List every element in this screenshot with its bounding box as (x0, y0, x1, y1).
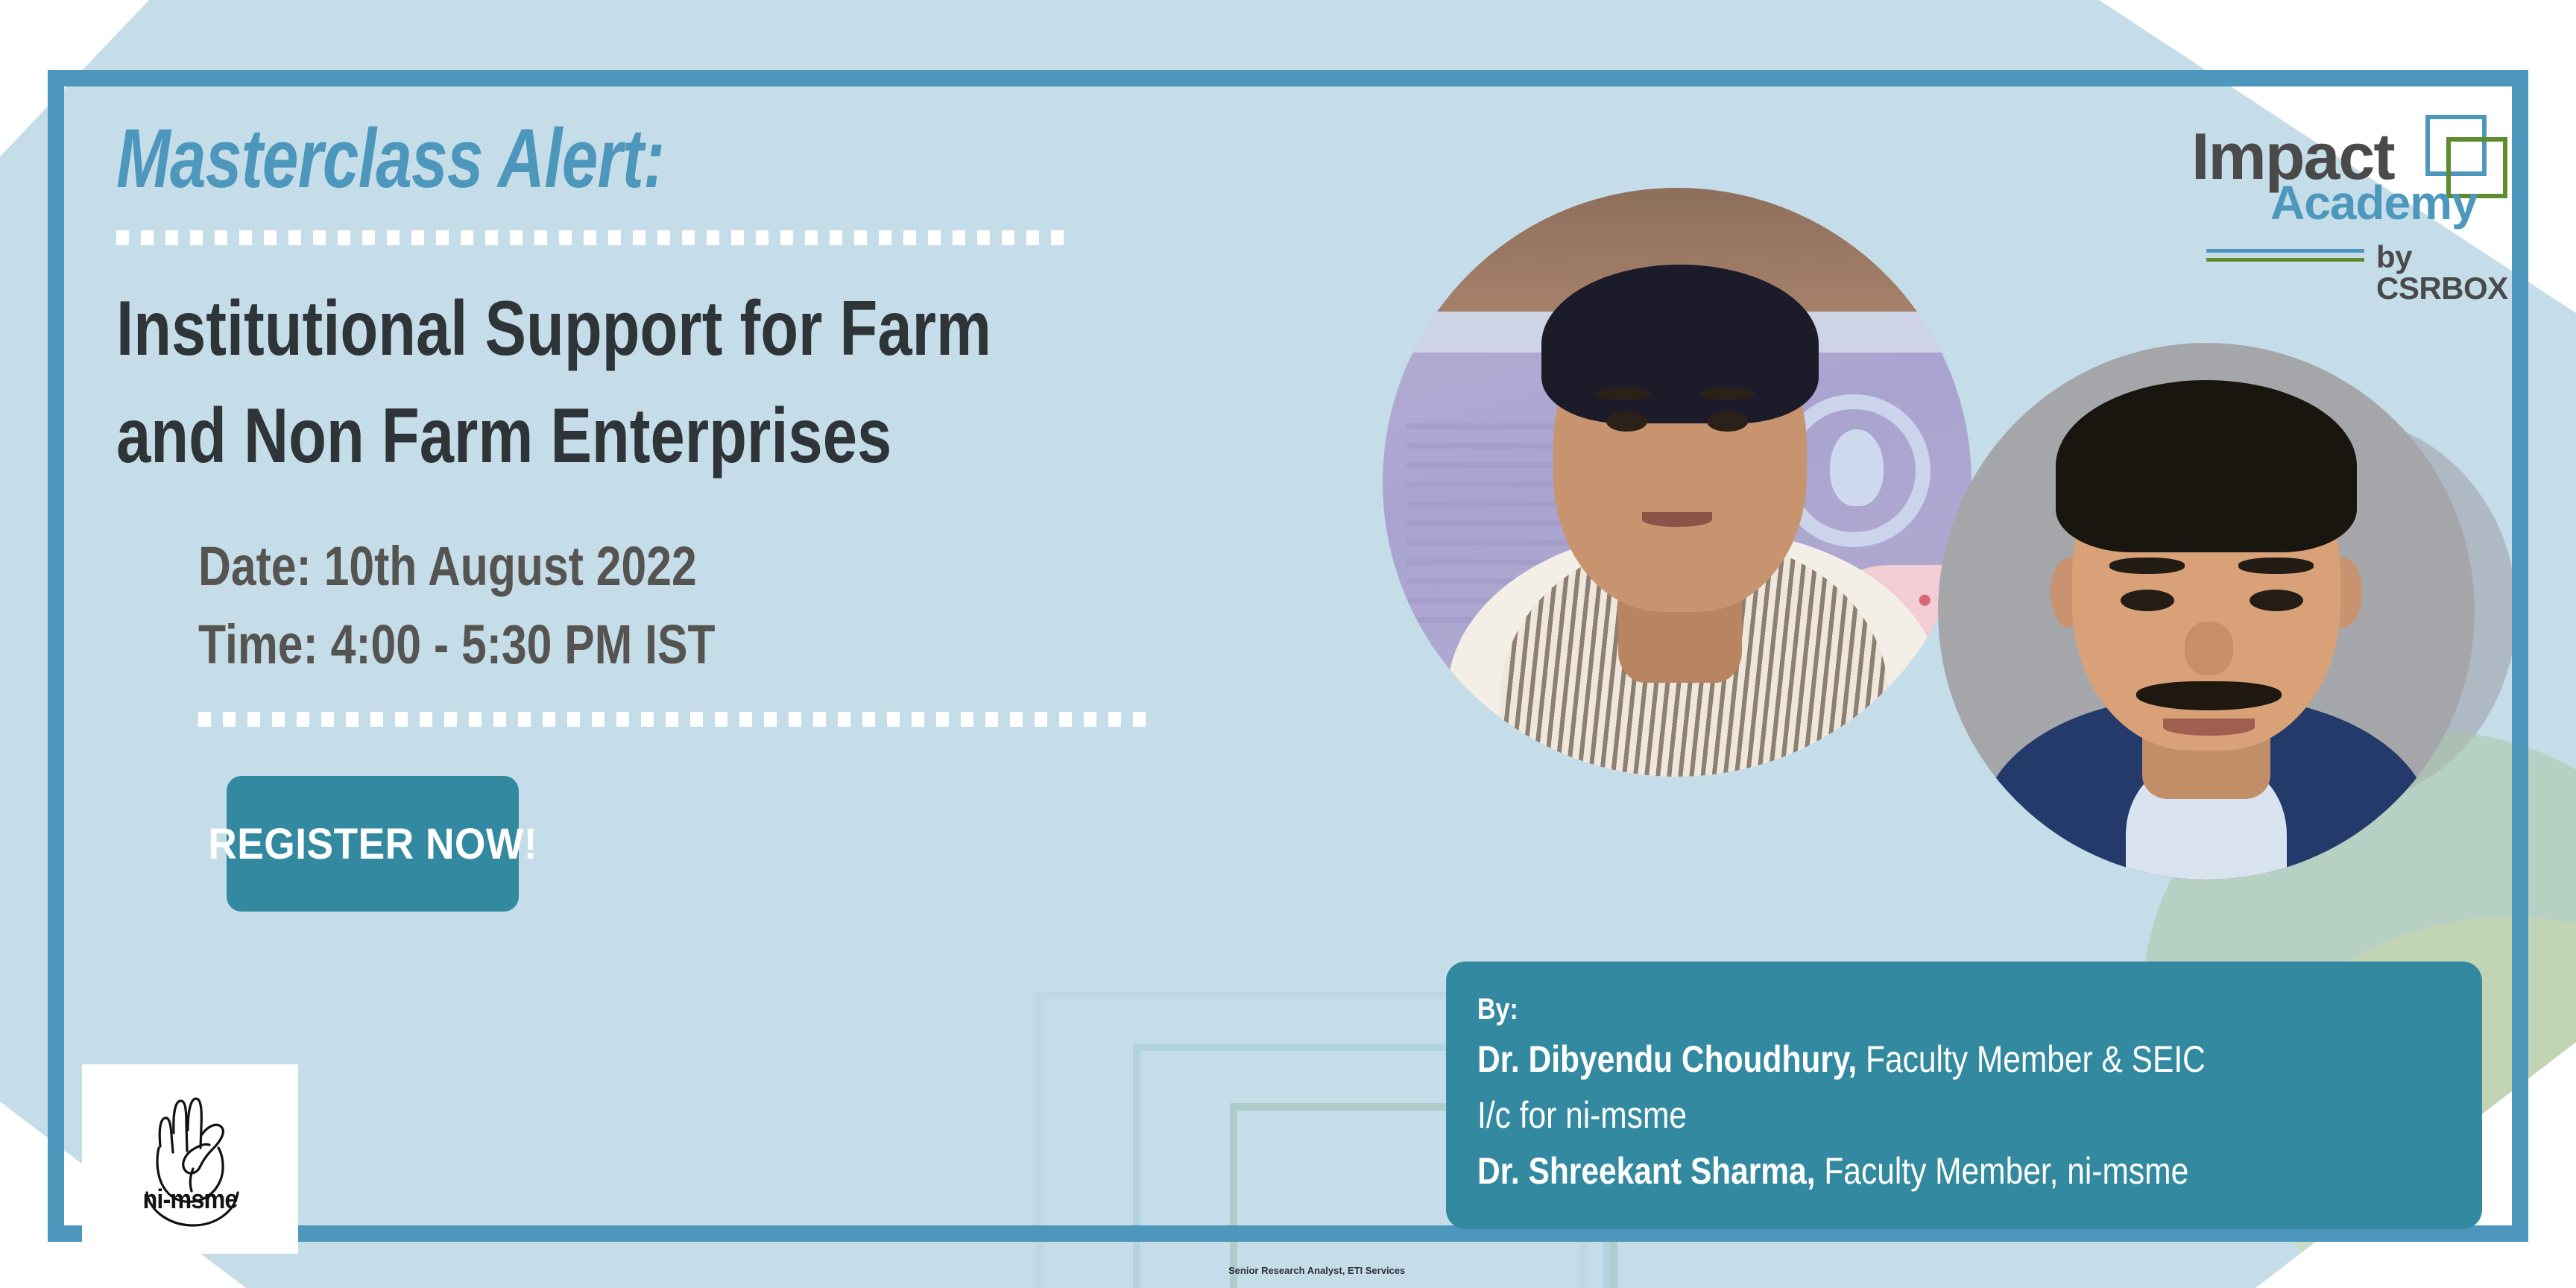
masterclass-banner: Masterclass Alert: Institutional Support… (0, 0, 2576, 1288)
event-time: Time: 4:00 - 5:30 PM IST (198, 607, 1170, 683)
headline-line-1: Institutional Support for Farm (116, 278, 1130, 380)
headline-line-2: and Non Farm Enterprises (116, 385, 1130, 487)
dotted-divider-top (116, 230, 1074, 245)
speaker-2-name: Dr. Shreekant Sharma, (1477, 1150, 1816, 1192)
speakers-panel: By: Dr. Dibyendu Choudhury, Faculty Memb… (1446, 962, 2482, 1229)
logo-academy-word: Academy (2270, 179, 2478, 227)
speaker-1-role-cont: I/c for ni-msme (1477, 1094, 1687, 1136)
speaker-photo-dibyendu-choudhury (1383, 188, 1972, 777)
logo-by-csrbox: by CSRBOX (2376, 241, 2508, 304)
ni-msme-wordmark: ni-msme (143, 1184, 238, 1215)
speaker-1-role: Faculty Member & SEIC (1857, 1038, 2206, 1080)
register-now-button[interactable]: REGISTER NOW! (227, 776, 519, 912)
register-now-label: REGISTER NOW! (208, 819, 537, 869)
speaker-1-name: Dr. Dibyendu Choudhury, (1477, 1038, 1857, 1080)
content-column: Masterclass Alert: Institutional Support… (116, 112, 1383, 912)
impact-academy-logo: Impact Academy by CSRBOX (2191, 124, 2504, 285)
micro-caption: Senior Research Analyst, ETI Services (1228, 1265, 1405, 1276)
speaker-entry-2: Dr. Shreekant Sharma, Faculty Member, ni… (1477, 1143, 2305, 1199)
kicker-text: Masterclass Alert: (116, 112, 1105, 205)
logo-rule-lines (2206, 249, 2364, 262)
event-date: Date: 10th August 2022 (198, 529, 1170, 604)
speaker-photo-shreekant-sharma (1938, 343, 2475, 880)
page-title: Institutional Support for Farm and Non F… (116, 278, 1383, 487)
speaker-entry-1: Dr. Dibyendu Choudhury, Faculty Member &… (1477, 1032, 2305, 1087)
ni-msme-logo: ni-msme (82, 1064, 298, 1254)
speakers-by-label: By: (1477, 987, 2305, 1032)
speaker-entry-1-cont: I/c for ni-msme (1477, 1087, 2305, 1143)
dotted-divider-bottom (198, 712, 1149, 727)
speaker-2-role: Faculty Member, ni-msme (1816, 1150, 2189, 1192)
